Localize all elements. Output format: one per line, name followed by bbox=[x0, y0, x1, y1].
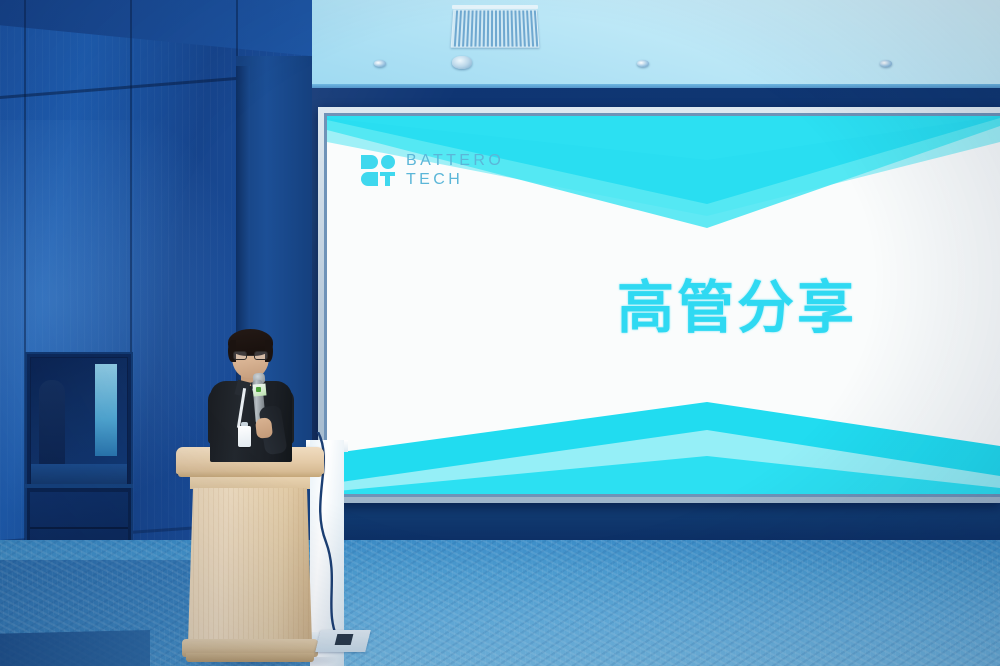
lectern-wood-grain bbox=[188, 488, 312, 643]
eyeglass-bridge bbox=[247, 355, 254, 356]
ceiling-spotlight-icon bbox=[374, 60, 386, 67]
logo-wordmark: BATTERO TECH bbox=[406, 152, 504, 190]
vent-mounting-bar bbox=[452, 5, 538, 9]
power-strip-socket-icon bbox=[335, 634, 354, 645]
presentation-photo-scene: BATTERO TECH 高管分享 bbox=[0, 0, 1000, 666]
lectern-base-plinth bbox=[186, 653, 314, 662]
lectern-neck bbox=[190, 477, 310, 489]
logo-circle-icon bbox=[381, 155, 395, 169]
light-behind-glass bbox=[95, 364, 117, 456]
alcove-midrail bbox=[25, 484, 133, 488]
logo-line-1: BATTERO bbox=[406, 152, 504, 171]
battero-logo-mark-icon bbox=[361, 155, 395, 186]
eyeglasses-icon bbox=[233, 351, 268, 360]
speaker-hand bbox=[255, 417, 273, 439]
alcove-glass-panel bbox=[30, 357, 128, 487]
ceiling-spotlight-icon bbox=[452, 56, 472, 69]
speaker-presenter bbox=[196, 332, 306, 462]
floor-behind-glass bbox=[31, 464, 127, 486]
figure-behind-glass bbox=[39, 380, 65, 466]
lectern bbox=[176, 447, 324, 666]
battero-tech-logo: BATTERO TECH bbox=[361, 152, 504, 190]
ceiling-spotlight-icon bbox=[637, 60, 649, 67]
logo-d-shape-icon bbox=[361, 155, 378, 169]
microphone-flag-mark-icon bbox=[256, 387, 261, 392]
ceiling-right-plane bbox=[300, 0, 1000, 92]
logo-c-shape-icon bbox=[361, 172, 378, 186]
eyeglass-lens-right bbox=[254, 351, 268, 360]
floor-shadow-area bbox=[0, 630, 150, 666]
logo-line-2: TECH bbox=[406, 171, 504, 190]
id-badge bbox=[238, 426, 251, 447]
eyeglass-lens-left bbox=[233, 351, 247, 360]
slide-title: 高管分享 bbox=[617, 262, 947, 344]
ceiling-spotlight-icon bbox=[880, 60, 892, 67]
carpet-texture bbox=[0, 540, 1000, 666]
presentation-screen[interactable]: BATTERO TECH 高管分享 bbox=[327, 116, 1000, 494]
alcove-lower-seam bbox=[30, 527, 128, 529]
logo-t-stem-icon bbox=[385, 172, 390, 186]
air-vent-icon bbox=[451, 10, 540, 48]
